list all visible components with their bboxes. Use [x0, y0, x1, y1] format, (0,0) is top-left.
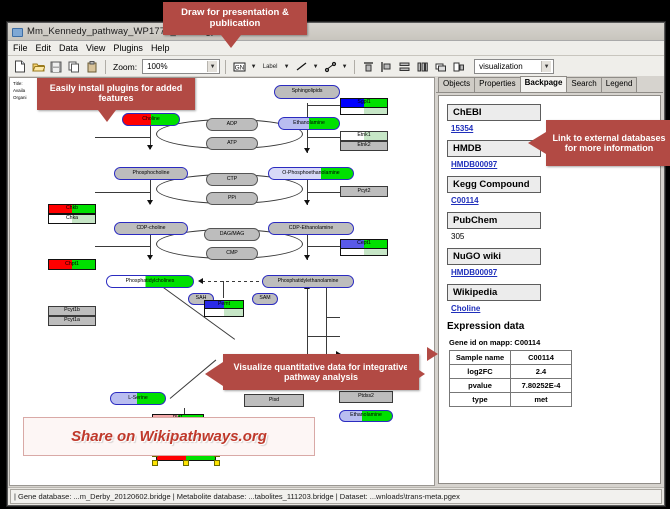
edge-sgpl1-connector: [307, 105, 343, 106]
datanode-dropdown-icon[interactable]: ▼: [249, 60, 258, 74]
bring-to-front-icon[interactable]: [432, 59, 448, 75]
node-phosphocholine[interactable]: Phosphocholine: [114, 167, 188, 180]
edge-chpt1-connector: [95, 192, 151, 193]
status-text: | Gene database: ...m_Derby_20120602.bri…: [10, 489, 662, 504]
table-row: pvalue 7.80252E-4: [450, 379, 572, 393]
node-gene-pcyt1a[interactable]: Pcyt1a: [48, 316, 96, 326]
menu-item-plugins[interactable]: Plugins: [113, 43, 143, 53]
cell-label: type: [450, 393, 511, 407]
db-link-nugo-wiki[interactable]: HMDB00097: [451, 268, 652, 277]
db-header-kegg-compound: Kegg Compound: [447, 176, 541, 193]
table-row: type met: [450, 393, 572, 407]
menu-bar: File Edit Data View Plugins Help: [8, 41, 664, 56]
callout-links-pointer-secondary: [427, 347, 438, 361]
db-link-wikipedia[interactable]: Choline: [451, 304, 652, 313]
node-gene-ptdss2[interactable]: Ptdss2: [339, 391, 393, 403]
label-button[interactable]: Label: [260, 59, 280, 75]
edge-cept1-connector: [307, 246, 343, 247]
arrowhead-left: [198, 278, 203, 284]
node-gene-cept1[interactable]: Cept1: [340, 239, 388, 249]
node-gene-etnk1[interactable]: Etnk1: [340, 131, 388, 141]
callout-share: Share on Wikipathways.org: [23, 417, 315, 456]
node-gene-chka[interactable]: Chka: [48, 214, 96, 224]
node-ethanolamine-bottom[interactable]: Ethanolamine: [339, 410, 393, 422]
title-bar: Mm_Kennedy_pathway_WP1771_45176.gpml: [8, 23, 664, 41]
node-gene-chpt1[interactable]: Chpt1: [48, 259, 96, 270]
anchor-dropdown-icon[interactable]: ▼: [340, 60, 349, 74]
gene-id-on-mapp: Gene id on mapp: C00114: [449, 338, 652, 347]
node-choline-top[interactable]: Choline: [122, 113, 180, 126]
pathway-title-block: Title: Availa Organi: [13, 80, 27, 102]
db-value-pubchem: 305: [451, 232, 652, 241]
visualization-value: visualization: [479, 62, 523, 71]
menu-item-edit[interactable]: Edit: [36, 43, 52, 53]
table-row: Sample name C00114: [450, 351, 572, 365]
cell-label: log2FC: [450, 365, 511, 379]
node-ppi[interactable]: PPi: [206, 192, 258, 205]
edge-ptdss2-connector: [326, 336, 340, 337]
node-phosphatidylethanolamine[interactable]: Phosphatidylethanolamine: [262, 275, 354, 288]
menu-item-file[interactable]: File: [13, 43, 28, 53]
edge-pcyt1-connector: [95, 246, 151, 247]
arrowhead-down: [147, 200, 153, 205]
db-header-wikipedia: Wikipedia: [447, 284, 541, 301]
node-gene-sgpl1-lower[interactable]: [340, 108, 388, 115]
node-cdp-choline[interactable]: CDP-choline: [114, 222, 188, 235]
node-gene-chkb[interactable]: Chkb: [48, 204, 96, 214]
edge-pcyt2-connector: [307, 192, 343, 193]
arrowhead-down: [304, 148, 310, 153]
screenshot-root: Mm_Kennedy_pathway_WP1771_45176.gpml Fil…: [0, 0, 670, 509]
callout-visualize-pointer-right: [407, 362, 425, 386]
cell-value: C00114: [511, 351, 572, 365]
node-gene-etnk2[interactable]: Etnk2: [340, 141, 388, 151]
db-link-kegg-compound[interactable]: C00114: [451, 196, 652, 205]
table-row: log2FC 2.4: [450, 365, 572, 379]
node-gene-pcyt2[interactable]: Pcyt2: [340, 186, 388, 197]
app-icon: [11, 26, 23, 37]
toolbar-separator: [354, 60, 355, 74]
cell-label: Sample name: [450, 351, 511, 365]
arrowhead-down: [304, 200, 310, 205]
availability-line: Availa: [13, 87, 27, 94]
cell-label: pvalue: [450, 379, 511, 393]
node-gene-pemt-lower[interactable]: [204, 309, 244, 317]
node-ctp[interactable]: CTP: [206, 173, 258, 186]
arrowhead-down: [147, 255, 153, 260]
cell-value: 2.4: [511, 365, 572, 379]
anchor-icon[interactable]: [322, 59, 338, 75]
node-gene-pcyt1b[interactable]: Pcyt1b: [48, 306, 96, 316]
toolbar-separator: [225, 60, 226, 74]
zoom-value: 100%: [147, 62, 167, 71]
node-gene-cept1-lower[interactable]: [340, 249, 388, 256]
selection-handle[interactable]: [183, 460, 189, 466]
callout-share-text: Share on Wikipathways.org: [71, 428, 267, 445]
callout-plugins: Easily install plugins for added feature…: [37, 77, 195, 110]
node-cmp[interactable]: CMP: [206, 247, 258, 260]
menu-item-view[interactable]: View: [86, 43, 105, 53]
node-atp[interactable]: ATP: [206, 137, 258, 150]
application-window: Mm_Kennedy_pathway_WP1771_45176.gpml Fil…: [7, 22, 665, 506]
arrowhead-down: [147, 145, 153, 150]
menu-item-help[interactable]: Help: [151, 43, 170, 53]
cell-value: met: [511, 393, 572, 407]
copy-icon[interactable]: [66, 59, 82, 75]
align-top-icon[interactable]: [360, 59, 376, 75]
tab-search[interactable]: Search: [566, 77, 601, 92]
selection-handle[interactable]: [152, 460, 158, 466]
paste-icon[interactable]: [84, 59, 100, 75]
tab-backpage[interactable]: Backpage: [520, 76, 568, 92]
line-dropdown-icon[interactable]: ▼: [311, 60, 320, 74]
node-gene-pemt[interactable]: Pemt: [204, 300, 244, 309]
db-header-chebi: ChEBI: [447, 104, 541, 121]
zoom-label: Zoom:: [113, 62, 137, 72]
callout-visualize: Visualize quantitative data for integrat…: [223, 354, 419, 390]
same-width-icon[interactable]: [414, 59, 430, 75]
status-bar: | Gene database: ...m_Derby_20120602.bri…: [8, 487, 664, 505]
callout-draw: Draw for presentation & publication: [163, 2, 307, 35]
tab-legend[interactable]: Legend: [601, 77, 638, 92]
send-to-back-icon[interactable]: [450, 59, 466, 75]
node-o-phosphoethanolamine[interactable]: O-Phosphoethanolamine: [268, 167, 354, 180]
callout-links: Link to external databases for more info…: [546, 120, 670, 166]
cell-value: 7.80252E-4: [511, 379, 572, 393]
pathway-canvas[interactable]: Title: Availa Organi: [9, 77, 435, 486]
zoom-combo[interactable]: 100% ▼: [142, 59, 220, 74]
edge-pemt-connector: [223, 281, 224, 298]
datanode-icon[interactable]: GN: [231, 59, 247, 75]
menu-item-data[interactable]: Data: [59, 43, 78, 53]
selection-handle[interactable]: [214, 460, 220, 466]
new-file-icon[interactable]: [12, 59, 28, 75]
toolbar-separator: [105, 60, 106, 74]
label-dropdown-icon[interactable]: ▼: [282, 60, 291, 74]
chevron-down-icon: ▼: [207, 61, 217, 72]
node-cdp-ethanolamine[interactable]: CDP-Ethanolamine: [268, 222, 354, 235]
align-left-icon[interactable]: [378, 59, 394, 75]
node-gene-sgpl1[interactable]: Sgpl1: [340, 98, 388, 108]
node-l-serine-left[interactable]: L-Serine: [110, 392, 166, 405]
callout-draw-pointer: [221, 35, 241, 48]
line-icon[interactable]: [293, 59, 309, 75]
toolbar: Zoom: 100% ▼ GN ▼ Label ▼ ▼ ▼: [8, 56, 664, 78]
node-sam[interactable]: SAM: [252, 293, 278, 305]
svg-text:GN: GN: [234, 64, 244, 71]
edge-etnk-connector: [307, 137, 343, 138]
db-header-nugo-wiki: NuGO wiki: [447, 248, 541, 265]
save-icon[interactable]: [48, 59, 64, 75]
node-adp[interactable]: ADP: [206, 118, 258, 131]
chevron-down-icon: ▼: [541, 61, 551, 72]
visualization-combo[interactable]: visualization ▼: [474, 59, 554, 74]
callout-links-pointer: [528, 132, 546, 154]
callout-visualize-pointer-left: [205, 362, 223, 386]
node-phosphatidylcholines[interactable]: Phosphatidylcholines: [106, 275, 194, 288]
db-header-pubchem: PubChem: [447, 212, 541, 229]
node-sphingolipids[interactable]: Sphingolipids: [274, 85, 340, 99]
distribute-icon[interactable]: [396, 59, 412, 75]
title-line: Title:: [13, 80, 27, 87]
callout-plugins-pointer: [98, 110, 116, 122]
arrowhead-down: [304, 255, 310, 260]
node-dagmag[interactable]: DAG/MAG: [204, 228, 260, 241]
open-folder-icon[interactable]: [30, 59, 46, 75]
tab-objects[interactable]: Objects: [438, 77, 475, 92]
tab-properties[interactable]: Properties: [474, 77, 520, 92]
db-header-hmdb: HMDB: [447, 140, 541, 157]
node-gene-pisd[interactable]: Pisd: [244, 394, 304, 407]
edge-chk-to-reaction: [95, 137, 151, 138]
expression-table: Sample name C00114 log2FC 2.4 pvalue 7.8…: [449, 350, 572, 407]
pathway-drawing: Title: Availa Organi: [10, 78, 434, 485]
side-panel-tabs: Objects Properties Backpage Search Legen…: [436, 77, 663, 93]
edge-lserine-connector: [326, 317, 340, 318]
node-ethanolamine-top[interactable]: Ethanolamine: [278, 117, 340, 130]
expression-data-heading: Expression data: [447, 321, 652, 332]
organism-line: Organi: [13, 94, 27, 101]
